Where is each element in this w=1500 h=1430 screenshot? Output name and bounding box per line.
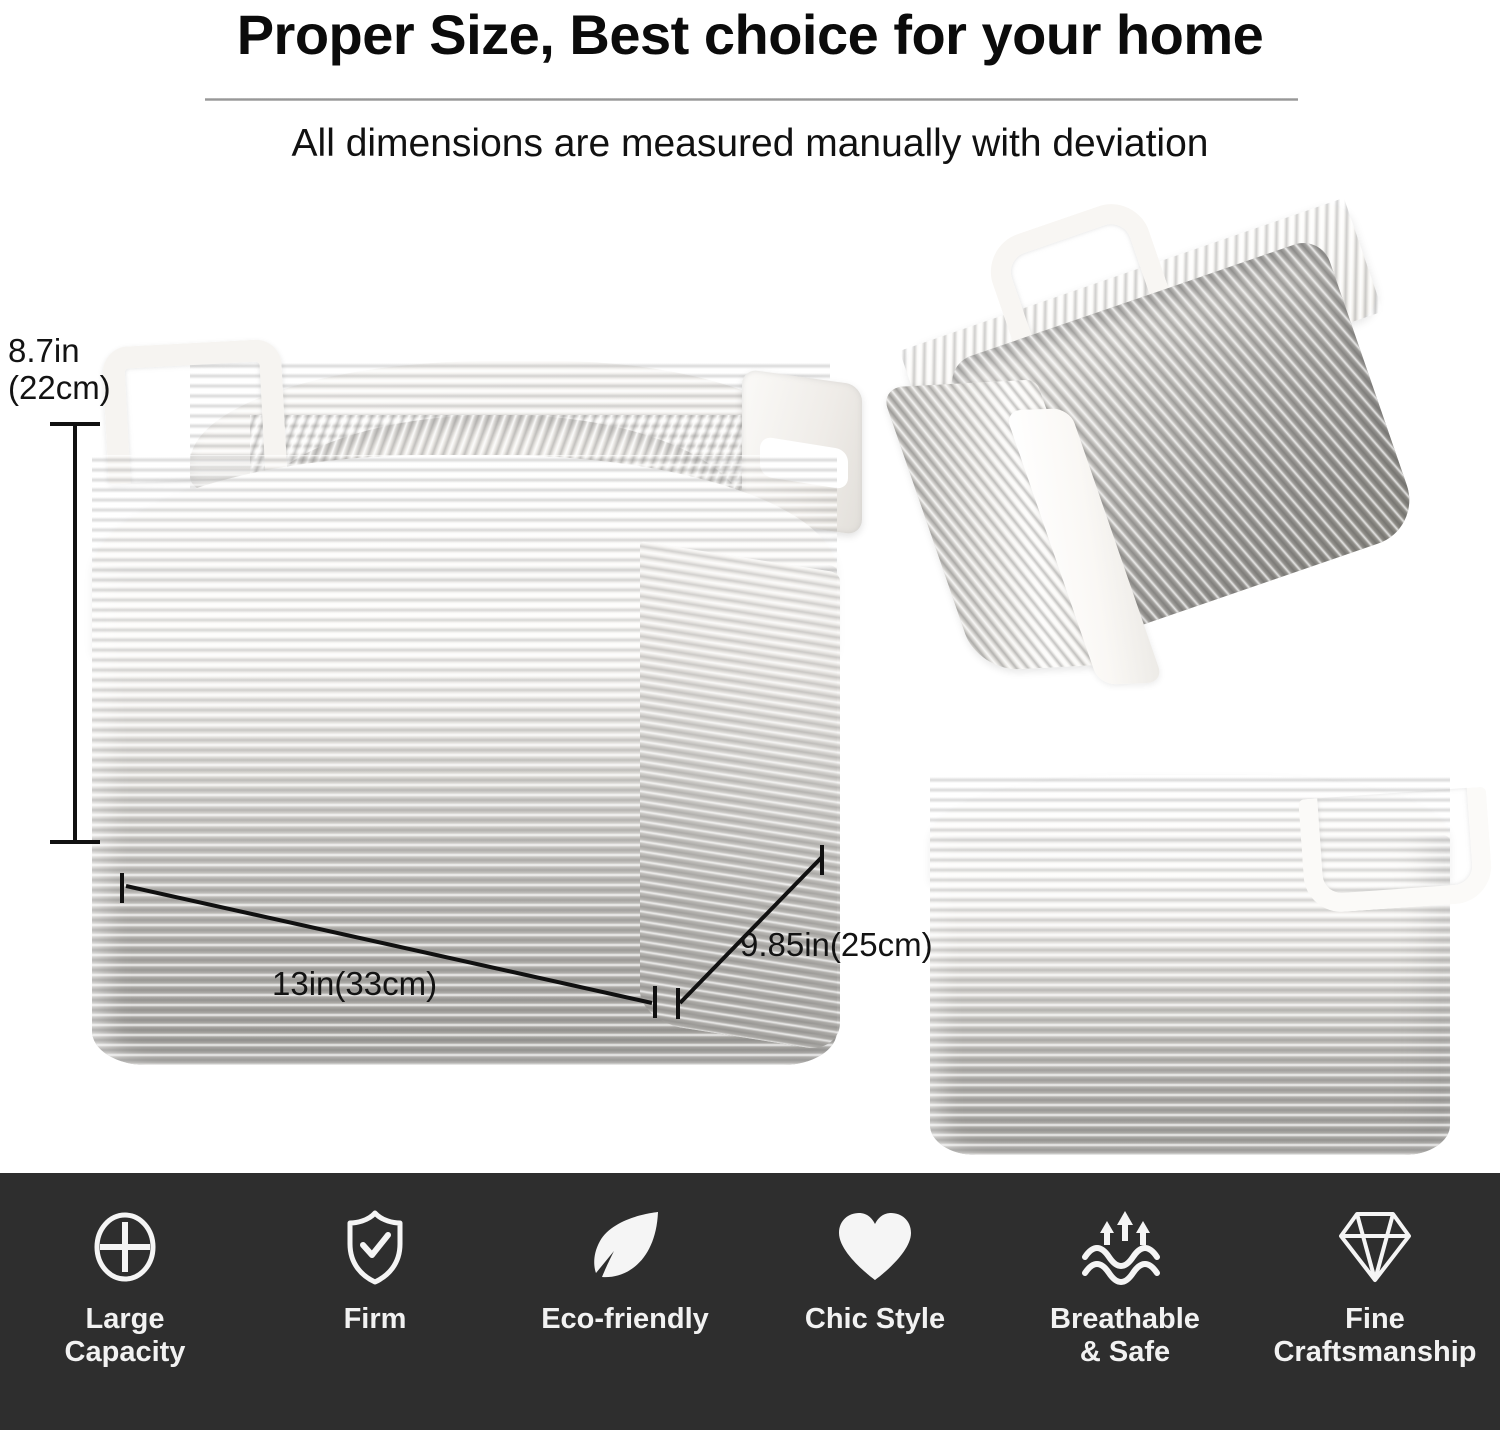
width-dimension-label: 13in(33cm) xyxy=(272,966,437,1003)
feature-label: Chic Style xyxy=(805,1303,945,1336)
diamond-icon xyxy=(1337,1205,1413,1289)
feature-chic-style: Chic Style xyxy=(758,1205,993,1336)
plus-circle-icon xyxy=(90,1205,160,1289)
feature-breathable-safe: Breathable & Safe xyxy=(1008,1205,1243,1369)
feature-eco-friendly: Eco-friendly xyxy=(508,1205,743,1336)
feature-firm: Firm xyxy=(258,1205,493,1336)
feature-bar: Large Capacity Firm Eco-friendly xyxy=(0,1173,1500,1430)
feature-label: Firm xyxy=(344,1303,407,1336)
feature-label: Fine Craftsmanship xyxy=(1273,1303,1476,1369)
breathable-waves-icon xyxy=(1079,1205,1171,1289)
leaf-icon xyxy=(584,1205,666,1289)
feature-large-capacity: Large Capacity xyxy=(8,1205,243,1369)
height-value-cm: (22cm) xyxy=(8,370,111,407)
shield-check-icon xyxy=(342,1205,408,1289)
height-value-inches: 8.7in xyxy=(8,333,111,370)
dimension-lines xyxy=(0,0,1500,1173)
feature-label: Large Capacity xyxy=(65,1303,186,1369)
feature-label: Eco-friendly xyxy=(541,1303,709,1336)
dimension-annotations: 8.7in (22cm) 13in(33cm) 9.85in(25cm) xyxy=(0,0,1500,1173)
product-infographic: Proper Size, Best choice for your home A… xyxy=(0,0,1500,1430)
depth-dimension-label: 9.85in(25cm) xyxy=(740,927,933,964)
heart-icon xyxy=(835,1205,915,1289)
feature-label: Breathable & Safe xyxy=(1050,1303,1200,1369)
height-dimension-label: 8.7in (22cm) xyxy=(8,333,111,407)
feature-fine-craftsmanship: Fine Craftsmanship xyxy=(1258,1205,1493,1369)
